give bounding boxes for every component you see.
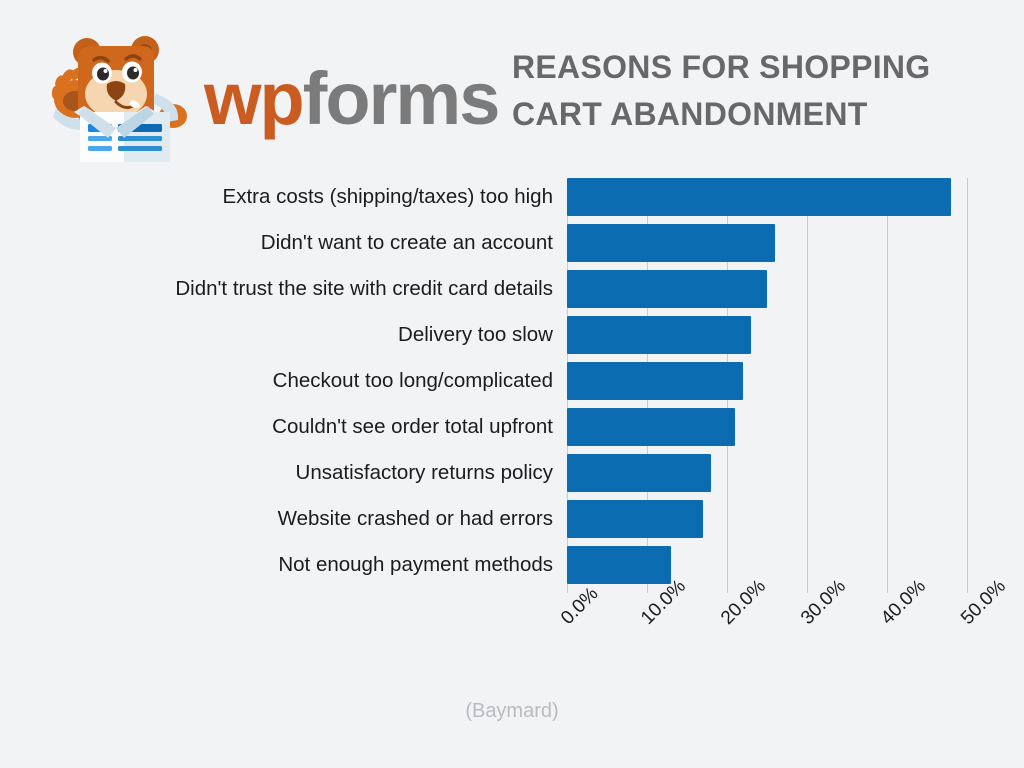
wpforms-wordmark: wpforms bbox=[204, 62, 498, 136]
bar[interactable] bbox=[567, 546, 671, 584]
source-note: (Baymard) bbox=[0, 700, 1024, 723]
category-label: Didn't want to create an account bbox=[0, 224, 553, 262]
bar[interactable] bbox=[567, 316, 751, 354]
bar[interactable] bbox=[567, 270, 767, 308]
bar[interactable] bbox=[567, 408, 735, 446]
x-tick-label: 40.0% bbox=[877, 576, 931, 630]
page-title: REASONS FOR SHOPPING CART ABANDONMENT bbox=[512, 44, 982, 138]
wordmark-forms: forms bbox=[303, 57, 499, 140]
x-tick-label: 0.0% bbox=[557, 583, 603, 629]
category-label: Checkout too long/complicated bbox=[0, 362, 553, 400]
chart-header: wpforms REASONS FOR SHOPPING CART ABANDO… bbox=[0, 0, 1024, 180]
wordmark-wp: wp bbox=[204, 57, 303, 140]
bar[interactable] bbox=[567, 178, 951, 216]
x-tick-label: 50.0% bbox=[957, 576, 1011, 630]
category-label: Extra costs (shipping/taxes) too high bbox=[0, 178, 553, 216]
bar[interactable] bbox=[567, 224, 775, 262]
bear-mascot-icon bbox=[44, 28, 204, 168]
bar[interactable] bbox=[567, 500, 703, 538]
category-label: Couldn't see order total upfront bbox=[0, 408, 553, 446]
x-tick-label: 20.0% bbox=[717, 576, 771, 630]
gridline-500 bbox=[967, 178, 968, 593]
gridline-300 bbox=[807, 178, 808, 593]
category-label: Not enough payment methods bbox=[0, 546, 553, 584]
title-line-2: CART ABANDONMENT bbox=[512, 91, 982, 138]
category-label: Unsatisfactory returns policy bbox=[0, 454, 553, 492]
bar[interactable] bbox=[567, 362, 743, 400]
plot-area: Extra costs (shipping/taxes) too highDid… bbox=[567, 178, 968, 593]
x-tick-label: 30.0% bbox=[797, 576, 851, 630]
gridline-400 bbox=[887, 178, 888, 593]
title-line-1: REASONS FOR SHOPPING bbox=[512, 44, 982, 91]
bar-chart: Extra costs (shipping/taxes) too highDid… bbox=[0, 170, 1024, 690]
category-label: Didn't trust the site with credit card d… bbox=[0, 270, 553, 308]
category-label: Website crashed or had errors bbox=[0, 500, 553, 538]
bar[interactable] bbox=[567, 454, 711, 492]
category-label: Delivery too slow bbox=[0, 316, 553, 354]
wpforms-logo: wpforms bbox=[44, 28, 474, 168]
